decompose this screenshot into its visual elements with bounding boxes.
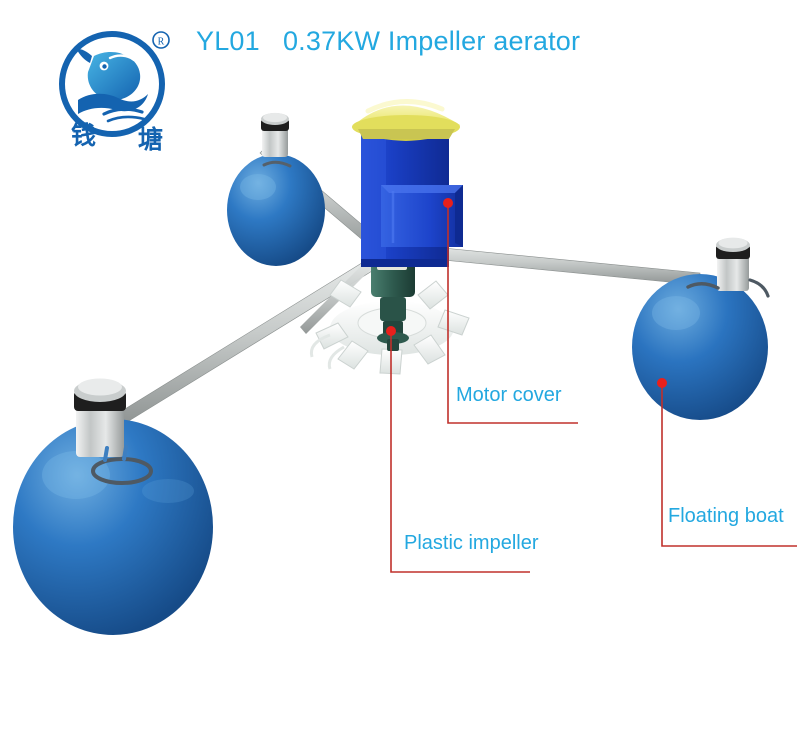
callout-label-floating-boat: Floating boat — [668, 505, 784, 528]
aerator-product-illustration — [0, 95, 797, 655]
svg-text:R: R — [158, 37, 165, 48]
callout-label-motor-cover: Motor cover — [456, 384, 562, 407]
product-image-canvas: R 钱 塘 YL01 0.37KW Impeller aerator — [0, 0, 797, 753]
motor-cover — [352, 101, 463, 267]
float-ball-top — [227, 113, 325, 266]
page-title: YL01 0.37KW Impeller aerator — [196, 26, 580, 57]
float-ball-right — [632, 238, 768, 420]
registered-mark-icon: R — [153, 32, 169, 48]
callout-label-plastic-impeller: Plastic impeller — [404, 532, 538, 555]
float-ball-left — [13, 379, 213, 636]
